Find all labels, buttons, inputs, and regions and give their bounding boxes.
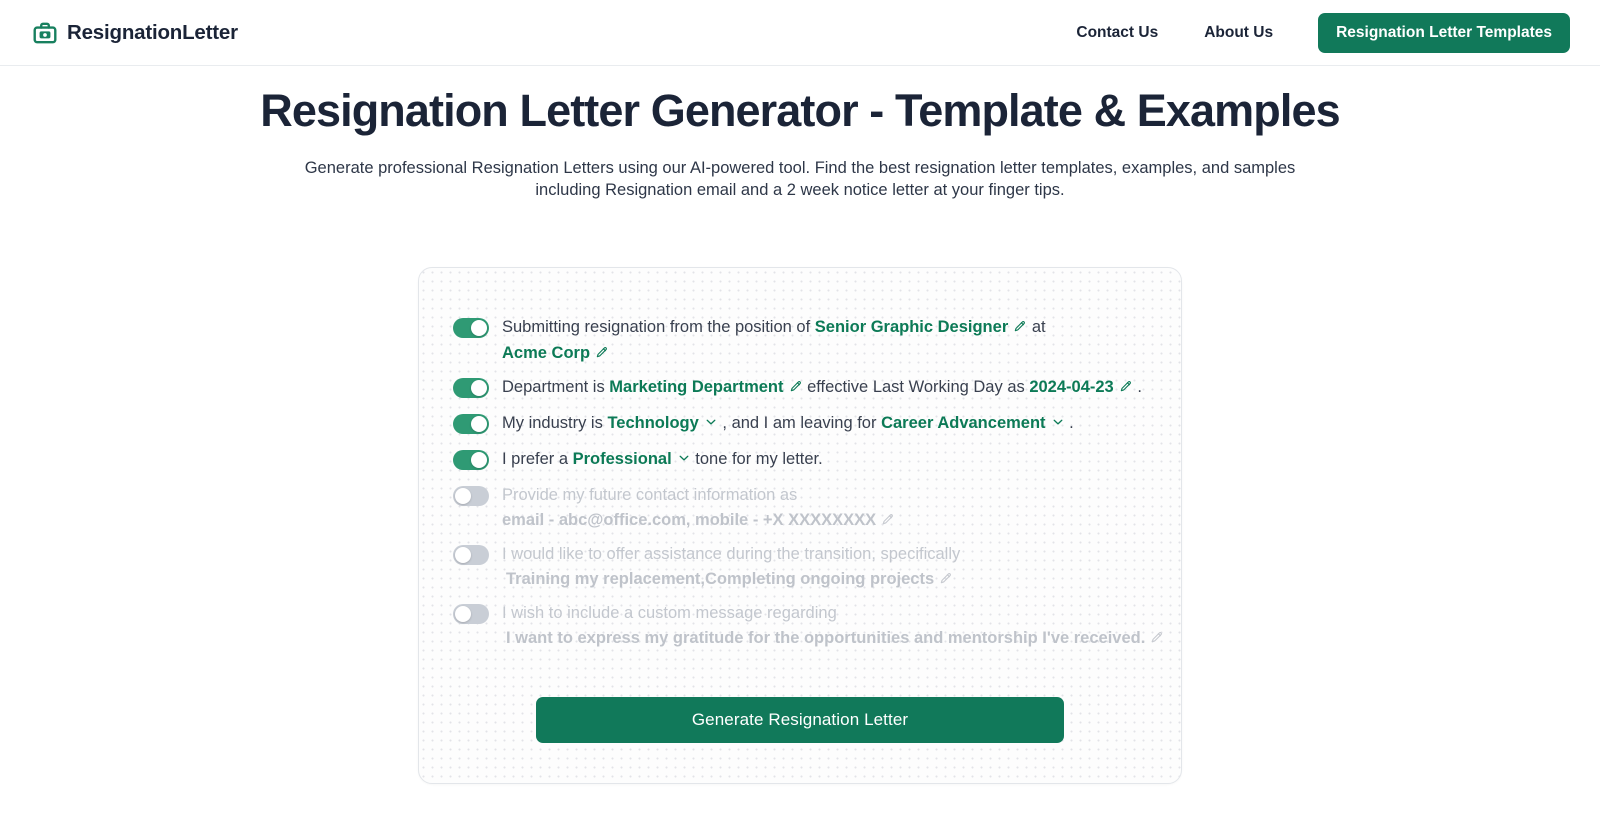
toggle-custom-message[interactable]	[453, 604, 489, 624]
toggle-tone[interactable]	[453, 450, 489, 470]
form-row-transition-assistance: I would like to offer assistance during …	[453, 537, 1147, 596]
chevron-down-icon[interactable]	[677, 451, 691, 465]
form-row-custom-message: I wish to include a custom message regar…	[453, 596, 1147, 655]
resignation-letter-templates-button[interactable]: Resignation Letter Templates	[1318, 13, 1570, 53]
hero-section: Resignation Letter Generator - Template …	[0, 66, 1600, 201]
generate-resignation-letter-button[interactable]: Generate Resignation Letter	[536, 697, 1064, 743]
site-header: ResignationLetter Contact Us About Us Re…	[0, 0, 1600, 66]
form-row-text-position: Submitting resignation from the position…	[502, 314, 1147, 365]
pencil-icon[interactable]	[881, 512, 895, 526]
label-text-2: , and I am leaving for	[718, 411, 881, 436]
label-text-1: Submitting resignation from the position…	[502, 315, 815, 340]
toggle-knob	[471, 380, 487, 396]
form-row-contact-info: Provide my future contact information as…	[453, 478, 1147, 537]
field-contact-info-1[interactable]: email - abc@office.com, mobile - +X XXXX…	[502, 508, 895, 533]
toggle-transition-assistance[interactable]	[453, 545, 489, 565]
nav-link-contact-us[interactable]: Contact Us	[1053, 24, 1181, 42]
toggle-industry-reason[interactable]	[453, 414, 489, 434]
form-row-text-industry-reason: My industry is Technology , and I am lea…	[502, 410, 1074, 436]
brand-name: ResignationLetter	[67, 21, 238, 45]
pencil-icon[interactable]	[939, 571, 953, 585]
form-rows: Submitting resignation from the position…	[453, 310, 1147, 655]
field-tone-1[interactable]: Professional	[573, 447, 691, 472]
pencil-icon[interactable]	[1013, 319, 1027, 333]
field-value: Marketing Department	[609, 375, 783, 400]
pencil-icon[interactable]	[1119, 379, 1133, 393]
label-text-1: My industry is	[502, 411, 607, 436]
field-value: I want to express my gratitude for the o…	[506, 626, 1145, 651]
label-text-3: .	[1133, 375, 1142, 400]
label-text-3: .	[1065, 411, 1074, 436]
form-row-text-transition-assistance: I would like to offer assistance during …	[502, 541, 1147, 592]
field-department-1[interactable]: Marketing Department	[609, 375, 802, 400]
field-value: Senior Graphic Designer	[815, 315, 1008, 340]
toggle-knob	[471, 452, 487, 468]
form-row-text-contact-info: Provide my future contact information as…	[502, 482, 1147, 533]
field-position-2[interactable]: Acme Corp	[502, 341, 609, 366]
nav-link-about-us[interactable]: About Us	[1181, 24, 1296, 42]
field-industry-reason-2[interactable]: Career Advancement	[881, 411, 1064, 436]
field-custom-message[interactable]: I want to express my gratitude for the o…	[506, 626, 1164, 651]
pencil-icon[interactable]	[595, 345, 609, 359]
chevron-down-icon[interactable]	[1051, 415, 1065, 429]
toggle-position[interactable]	[453, 318, 489, 338]
toggle-knob	[471, 320, 487, 336]
field-value: 2024-04-23	[1029, 375, 1113, 400]
field-value: Acme Corp	[502, 341, 590, 366]
chevron-down-icon[interactable]	[704, 415, 718, 429]
form-row-position: Submitting resignation from the position…	[453, 310, 1147, 369]
form-row-text-custom-message: I wish to include a custom message regar…	[502, 600, 1164, 651]
main-nav: Contact Us About Us Resignation Letter T…	[1053, 13, 1570, 53]
label-text-2: effective Last Working Day as	[803, 375, 1030, 400]
label-text: I wish to include a custom message regar…	[502, 601, 837, 626]
form-row-text-department: Department is Marketing Department effec…	[502, 374, 1142, 400]
form-row-text-tone: I prefer a Professional tone for my lett…	[502, 446, 823, 472]
briefcase-icon	[32, 20, 58, 46]
toggle-knob	[455, 547, 471, 563]
form-row-tone: I prefer a Professional tone for my lett…	[453, 442, 1147, 478]
toggle-knob	[455, 488, 471, 504]
generator-card-wrapper: Submitting resignation from the position…	[0, 267, 1600, 784]
label-text-1: Provide my future contact information as	[502, 483, 802, 508]
field-value: Career Advancement	[881, 411, 1045, 436]
form-row-industry-reason: My industry is Technology , and I am lea…	[453, 406, 1147, 442]
brand-logo[interactable]: ResignationLetter	[32, 20, 238, 46]
generate-button-wrapper: Generate Resignation Letter	[453, 697, 1147, 743]
field-value: Training my replacement,Completing ongoi…	[506, 567, 934, 592]
label-text-2: at	[1027, 315, 1050, 340]
toggle-contact-info[interactable]	[453, 486, 489, 506]
field-value: Professional	[573, 447, 672, 472]
field-industry-reason-1[interactable]: Technology	[607, 411, 717, 436]
label-text-2: tone for my letter.	[691, 447, 823, 472]
field-transition-assistance[interactable]: Training my replacement,Completing ongoi…	[506, 567, 953, 592]
field-value: email - abc@office.com, mobile - +X XXXX…	[502, 508, 876, 533]
page-subtitle: Generate professional Resignation Letter…	[295, 157, 1305, 201]
toggle-knob	[455, 606, 471, 622]
field-department-2[interactable]: 2024-04-23	[1029, 375, 1132, 400]
page-title: Resignation Letter Generator - Template …	[0, 83, 1600, 139]
pencil-icon[interactable]	[1150, 630, 1164, 644]
label-text-1: Department is	[502, 375, 609, 400]
field-position-1[interactable]: Senior Graphic Designer	[815, 315, 1027, 340]
pencil-icon[interactable]	[789, 379, 803, 393]
toggle-knob	[471, 416, 487, 432]
field-value: Technology	[607, 411, 698, 436]
label-text-1: I prefer a	[502, 447, 573, 472]
toggle-department[interactable]	[453, 378, 489, 398]
generator-card: Submitting resignation from the position…	[418, 267, 1182, 784]
form-row-department: Department is Marketing Department effec…	[453, 370, 1147, 406]
label-text: I would like to offer assistance during …	[502, 542, 960, 567]
